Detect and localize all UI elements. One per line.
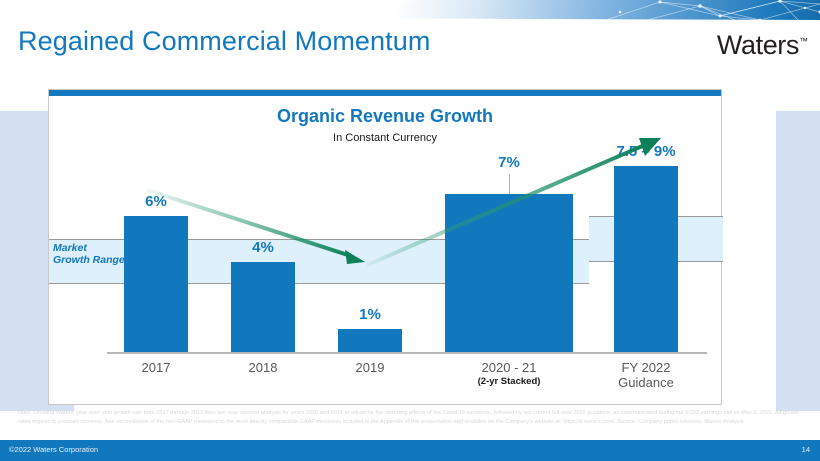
x-axis-tick-label: 2019 [356,360,385,375]
x-axis-tick-4: 2020 - 21(2-yr Stacked) [434,360,584,387]
right-accent-panel [776,111,820,411]
x-axis-tick-sublabel: Guidance [571,375,721,390]
x-axis-tick-label: FY 2022 [622,360,671,375]
market-growth-range-label-line1: Market [53,242,87,254]
header-decoration-banner [0,0,820,22]
bar-value-label: 4% [203,239,323,256]
bar-chart-plot: Market Growth Range 6%20174%20181%20197%… [49,90,723,406]
trademark-symbol: ™ [799,36,808,46]
bar-2019 [338,329,402,352]
x-axis-tick-sublabel: (2-yr Stacked) [434,376,584,387]
market-growth-range-label: Market Growth Range [53,242,125,266]
footer-bar: ©2022 Waters Corporation 14 [0,440,820,461]
x-axis-tick-label: 2018 [249,360,278,375]
x-axis-tick-3: 2019 [295,360,445,375]
waters-logo-text: Waters [717,30,799,60]
bar-value-label: 7% [449,154,569,171]
bar-2017 [124,216,188,352]
chart-card: Organic Revenue Growth In Constant Curre… [48,89,722,405]
footer-page-number: 14 [802,445,810,454]
bar-2018 [231,262,295,352]
page-title: Regained Commercial Momentum [18,26,430,57]
market-growth-range-label-line2: Growth Range [53,254,125,266]
bar-value-label: 7.5 – 9% [586,143,706,160]
footer-copyright: ©2022 Waters Corporation [9,445,98,454]
waters-logo: Waters™ [717,30,808,61]
bar-value-label: 1% [310,306,430,323]
bar-value-label: 6% [96,193,216,210]
x-axis-tick-label: 2020 - 21 [482,360,537,375]
x-axis-tick-label: 2017 [142,360,171,375]
bar-2020-21 [445,194,573,352]
x-axis-tick-5: FY 2022Guidance [571,360,721,390]
bar-fy-2022 [614,166,678,352]
value-label-leader-line [509,174,510,194]
x-axis-line [107,352,707,354]
footnote-text: Note: Showing Waters’ year-over-year gro… [18,409,806,426]
